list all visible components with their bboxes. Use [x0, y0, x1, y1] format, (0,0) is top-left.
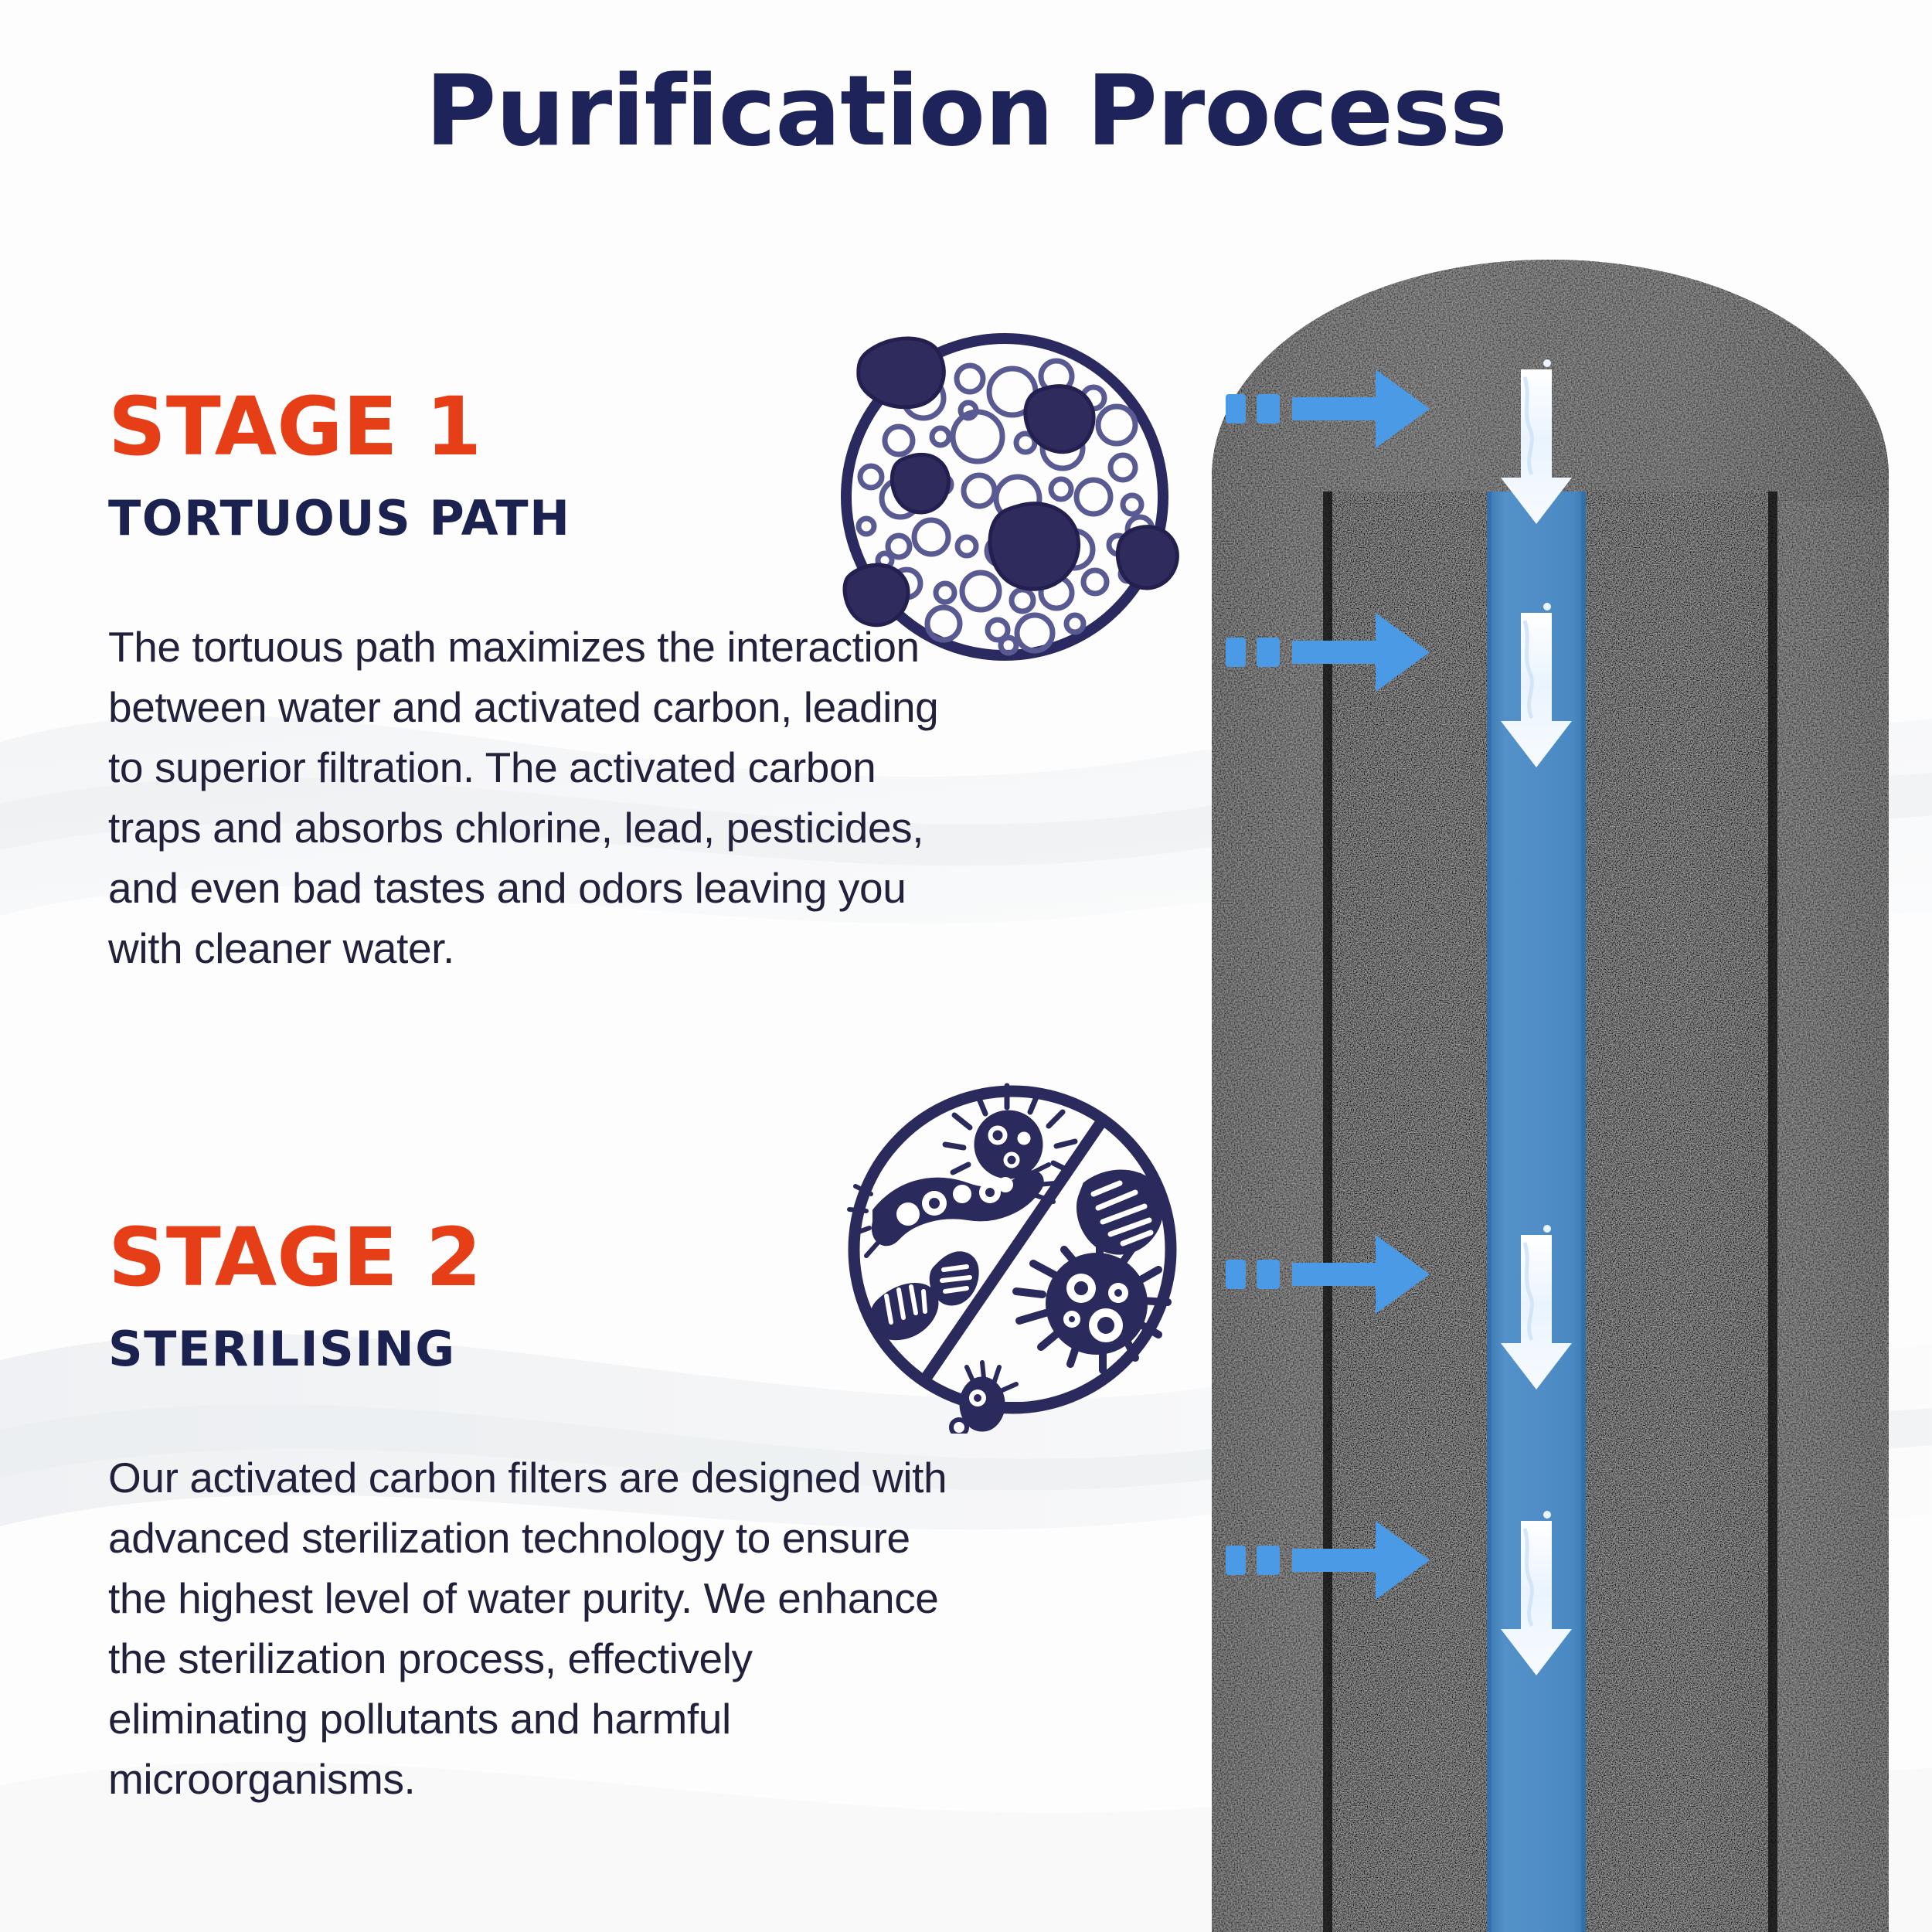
- carbon-block-filter-cutaway: [1212, 246, 1889, 1932]
- no-bacteria-icon: [831, 1070, 1194, 1434]
- carbon-pores-contaminants-icon: [815, 305, 1194, 684]
- page-title: Purification Process: [0, 60, 1932, 162]
- infographic-root: Purification Process STAGE 1 TORTUOUS PA…: [0, 0, 1932, 1932]
- stage-2-body: Our activated carbon filters are designe…: [108, 1447, 951, 1810]
- diagram-description: Cutaway of an activated carbon block fil…: [0, 0, 1, 1]
